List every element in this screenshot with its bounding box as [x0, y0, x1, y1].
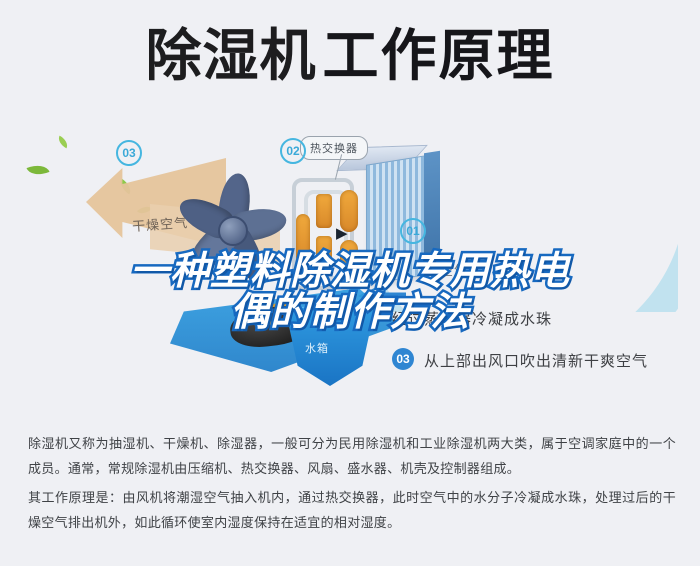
leaf-icon: [56, 136, 70, 149]
dehumidifier-diagram: 干燥空气 潮湿空气 ▶ ▲ ▼: [0, 112, 700, 412]
heat-exchanger-side-icon: [424, 151, 440, 270]
step-badge-03-top: 03: [116, 140, 142, 166]
step-badge-01: 01: [400, 218, 426, 244]
body-paragraph-2: 其工作原理是：由风机将潮湿空气抽入机内，通过热交换器，此时空气中的水分子冷凝成水…: [28, 485, 676, 536]
fan-icon: [172, 170, 290, 288]
body-paragraph-1: 除湿机又称为抽湿机、干燥机、除湿器，一般可分为民用除湿机和工业除湿机两大类，属于…: [28, 431, 676, 482]
step-badge-02: 02: [280, 138, 306, 164]
leaf-icon: [26, 161, 49, 180]
page-title: 除湿机工作原理: [0, 28, 700, 85]
heat-exchanger-callout: 热交换器: [300, 136, 368, 160]
evaporator-step-text: 经过蒸发器冷凝成水珠: [392, 308, 552, 329]
water-tank: [285, 308, 375, 386]
page-root: 除湿机工作原理 干燥空气 潮湿空气: [0, 0, 700, 566]
step-badge-03-bottom: 03: [392, 348, 414, 370]
page-title-part2: 工作原理: [323, 24, 555, 87]
water-tank-label: 水箱: [305, 340, 329, 356]
outlet-step-text: 从上部出风口吹出清新干爽空气: [424, 350, 648, 371]
page-title-part1: 除湿机: [146, 24, 317, 89]
